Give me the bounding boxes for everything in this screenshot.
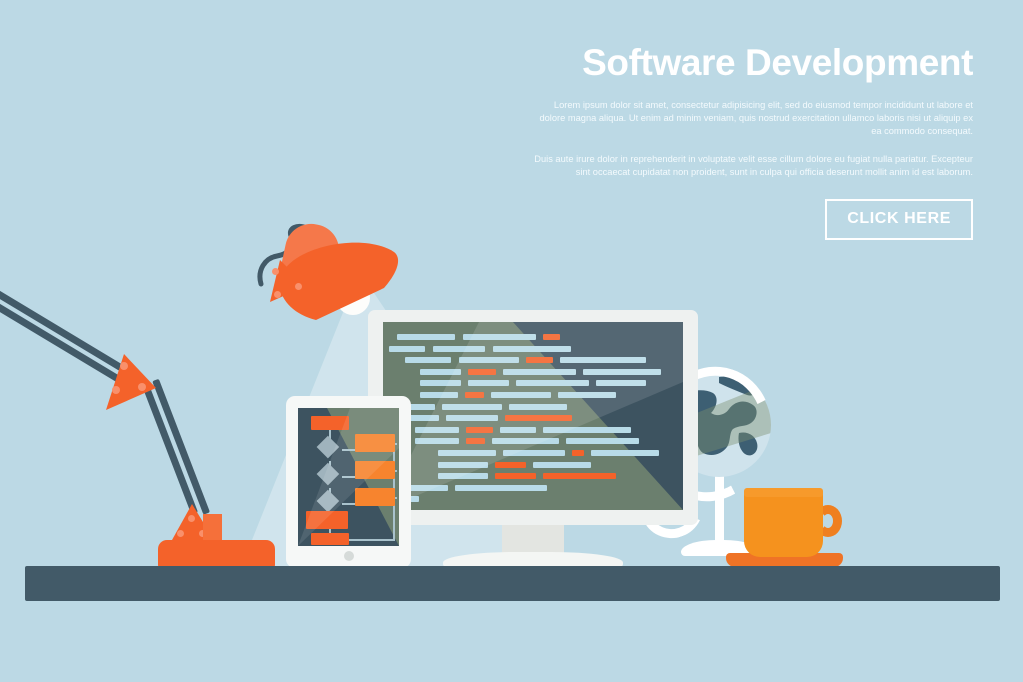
monitor-screen[interactable] — [383, 322, 683, 510]
desk-surface — [25, 566, 1000, 601]
monitor-light-overlay — [383, 322, 683, 510]
lamp-joint-top-dot-3 — [274, 291, 281, 298]
lamp-joint-base-dot-1 — [188, 515, 195, 522]
illustration-stage: Software Development Lorem ipsum dolor s… — [0, 0, 1023, 682]
lamp-joint-mid-dot-3 — [112, 386, 120, 394]
lamp-joint-top-dot-2 — [295, 283, 302, 290]
tablet-screen[interactable] — [298, 408, 399, 546]
lamp-joint-mid — [100, 352, 162, 414]
lamp-joint-top-dot-1 — [272, 268, 279, 275]
lamp-joint-mid-dot-1 — [120, 362, 128, 370]
monitor-foot — [443, 552, 623, 567]
lamp-joint-top — [258, 258, 310, 308]
lamp-joint-base-dot-2 — [177, 530, 184, 537]
lamp-base — [158, 540, 275, 567]
tablet-home-button[interactable] — [344, 551, 354, 561]
coffee-cup[interactable] — [744, 491, 823, 557]
tablet-light-overlay — [298, 408, 399, 546]
cup-rim — [744, 488, 823, 497]
lamp-joint-mid-dot-2 — [138, 383, 146, 391]
